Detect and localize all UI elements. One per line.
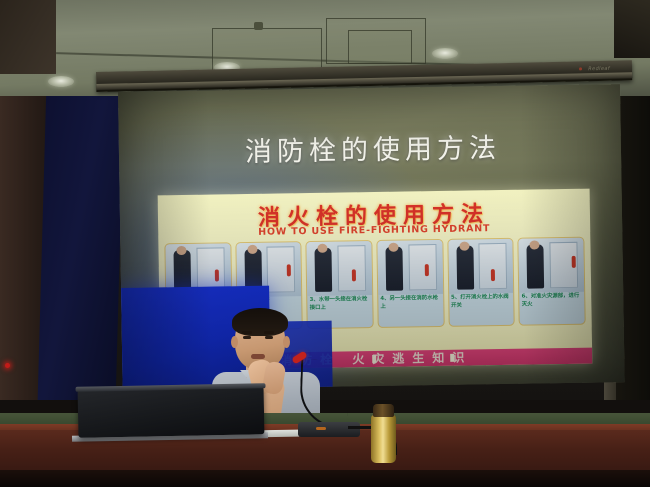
downlight-icon (432, 48, 458, 59)
hydrant-cabinet-icon (408, 244, 437, 290)
slide-title: 消防栓的使用方法 (245, 124, 606, 169)
presenter-ear (231, 336, 238, 348)
projection-screen: 消防栓的使用方法 消火栓的使用方法 HOW TO USE FIRE-FIGHTI… (118, 84, 625, 390)
laptop (78, 386, 265, 438)
hydrant-cabinet-icon (479, 243, 508, 289)
step-photo (519, 238, 585, 293)
housing-indicator-dot (579, 67, 582, 70)
navy-wall-panel (38, 86, 125, 400)
conference-room-photo: Redleaf 消防栓的使用方法 消火栓的使用方法 HOW TO USE FIR… (0, 0, 650, 487)
nozzle-icon (572, 256, 576, 268)
presenter-mouth (251, 354, 265, 359)
presenter-eye (243, 336, 251, 339)
person-figure-icon (456, 245, 474, 289)
step-caption: 5、打开消火栓上的水阀开关 (451, 294, 512, 310)
presenter-ear (283, 336, 290, 348)
step-caption: 4、另一头接在消防水枪上 (380, 295, 441, 311)
housing-brand-label: Redleaf (588, 66, 610, 72)
person-head-icon (176, 246, 186, 255)
hydrant-cabinet-icon (267, 246, 296, 292)
presenter-hair (232, 308, 288, 336)
step-caption: 6、对准火灾源部，进行灭火 (522, 293, 583, 309)
person-figure-icon (385, 247, 403, 291)
thermos-cap (373, 404, 394, 417)
presenter-brow (242, 331, 252, 334)
ceiling-corner-right (614, 0, 650, 58)
person-head-icon (459, 242, 469, 251)
presenter-brow (264, 331, 274, 334)
indicator-led (5, 363, 10, 368)
hose-icon (424, 264, 428, 276)
hose-icon (214, 269, 218, 281)
presenter-eye (265, 336, 273, 339)
person-figure-icon (527, 244, 545, 288)
step-photo (377, 240, 443, 295)
thermos-flask (371, 415, 396, 463)
person-head-icon (247, 245, 257, 254)
hose-icon (352, 269, 356, 281)
step-panel: 6、对准火灾源部，进行灭火 (518, 237, 586, 326)
table-shadow-band (0, 470, 650, 487)
ceiling-corner-left (0, 0, 56, 74)
ceiling-access-hatch-3 (348, 30, 412, 64)
hydrant-cabinet-icon (337, 245, 366, 291)
valve-icon (491, 269, 495, 281)
downlight-icon (48, 76, 74, 87)
hose-icon (287, 264, 291, 276)
step-photo (307, 241, 373, 296)
step-panel: 4、另一头接在消防水枪上 (376, 239, 444, 328)
person-figure-icon (315, 248, 333, 292)
ceiling-fixture-knob (254, 22, 263, 30)
step-panel: 5、打开消火栓上的水阀开关 (447, 238, 515, 327)
microphone-led (316, 427, 326, 430)
step-photo (448, 239, 514, 294)
